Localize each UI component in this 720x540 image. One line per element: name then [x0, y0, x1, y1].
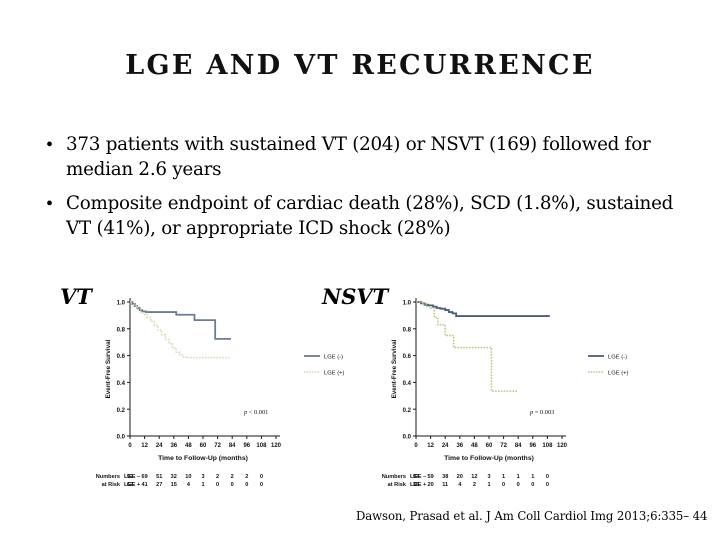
svg-text:12: 12	[427, 443, 434, 449]
svg-text:72: 72	[214, 443, 221, 449]
bullet-text: Composite endpoint of cardiac death (28%…	[66, 191, 694, 241]
svg-text:84: 84	[229, 443, 236, 449]
svg-text:Numbers: Numbers	[382, 474, 406, 480]
svg-text:2: 2	[245, 474, 248, 480]
svg-text:1: 1	[502, 474, 505, 480]
svg-text:60: 60	[486, 443, 493, 449]
svg-text:120: 120	[557, 443, 568, 449]
svg-text:20: 20	[457, 474, 463, 480]
svg-text:p < 0.001: p < 0.001	[243, 409, 268, 416]
svg-text:60: 60	[200, 443, 207, 449]
chart-panel-nsvt: NSVT 0.00.20.40.60.81.001224364860728496…	[322, 284, 642, 509]
svg-text:p = 0.003: p = 0.003	[529, 409, 554, 416]
svg-text:1.0: 1.0	[117, 301, 126, 307]
svg-text:1: 1	[487, 482, 490, 488]
bullet-text: 373 patients with sustained VT (204) or …	[66, 132, 694, 182]
svg-text:at Risk: at Risk	[102, 482, 121, 488]
svg-text:51: 51	[156, 474, 162, 480]
svg-text:0.2: 0.2	[403, 408, 412, 414]
chart-panel-vt: VT 0.00.20.40.60.81.00122436486072849610…	[58, 284, 363, 509]
svg-text:Event-Free Survival: Event-Free Survival	[391, 339, 398, 398]
svg-text:0.4: 0.4	[117, 381, 126, 387]
svg-text:41: 41	[141, 482, 147, 488]
svg-text:0: 0	[260, 474, 263, 480]
citation-text: Dawson, Prasad et al. J Am Coll Cardiol …	[356, 509, 707, 523]
km-curve-vt: 0.00.20.40.60.81.00122436486072849610812…	[58, 284, 363, 509]
svg-text:0: 0	[502, 482, 505, 488]
svg-text:92: 92	[127, 474, 133, 480]
svg-text:0: 0	[531, 482, 534, 488]
svg-text:0: 0	[546, 474, 549, 480]
svg-text:27: 27	[156, 482, 162, 488]
svg-text:1: 1	[517, 474, 520, 480]
svg-text:1: 1	[201, 482, 204, 488]
svg-text:0.2: 0.2	[117, 408, 126, 414]
svg-text:36: 36	[170, 443, 177, 449]
svg-text:10: 10	[185, 474, 191, 480]
svg-text:15: 15	[171, 482, 177, 488]
bullet-marker: •	[46, 191, 66, 218]
svg-text:48: 48	[185, 443, 192, 449]
svg-text:36: 36	[456, 443, 463, 449]
svg-text:1.0: 1.0	[403, 301, 412, 307]
svg-text:4: 4	[187, 482, 191, 488]
svg-text:Event-Free Survival: Event-Free Survival	[105, 339, 112, 398]
svg-text:0: 0	[231, 482, 234, 488]
svg-text:0.6: 0.6	[403, 354, 412, 360]
svg-text:62: 62	[127, 482, 133, 488]
svg-text:48: 48	[471, 443, 478, 449]
svg-text:LGE (-): LGE (-)	[608, 354, 627, 360]
svg-text:72: 72	[500, 443, 507, 449]
svg-text:12: 12	[471, 474, 477, 480]
svg-text:0: 0	[128, 443, 132, 449]
svg-text:Numbers: Numbers	[96, 474, 120, 480]
svg-text:0: 0	[260, 482, 263, 488]
svg-text:24: 24	[442, 443, 449, 449]
svg-text:0.4: 0.4	[403, 381, 412, 387]
bullet-marker: •	[46, 132, 66, 159]
svg-text:0.8: 0.8	[117, 327, 126, 333]
svg-text:11: 11	[442, 482, 448, 488]
svg-text:108: 108	[256, 443, 267, 449]
svg-text:0.0: 0.0	[117, 435, 126, 441]
svg-text:0: 0	[216, 482, 219, 488]
svg-text:2: 2	[473, 482, 476, 488]
slide-canvas: LGE AND VT RECURRENCE • 373 patients wit…	[0, 0, 720, 540]
page-title: LGE AND VT RECURRENCE	[0, 50, 720, 81]
svg-text:35: 35	[413, 482, 419, 488]
svg-text:1: 1	[531, 474, 534, 480]
svg-text:4: 4	[458, 482, 462, 488]
svg-text:3: 3	[487, 474, 490, 480]
svg-text:32: 32	[171, 474, 177, 480]
svg-text:0.6: 0.6	[117, 354, 126, 360]
svg-text:0.8: 0.8	[403, 327, 412, 333]
svg-text:108: 108	[542, 443, 553, 449]
svg-text:LGE (+): LGE (+)	[608, 370, 629, 376]
svg-text:97: 97	[413, 474, 419, 480]
svg-text:Time to Follow-Up (months): Time to Follow-Up (months)	[444, 455, 534, 462]
svg-text:12: 12	[141, 443, 148, 449]
svg-text:0: 0	[245, 482, 248, 488]
svg-text:84: 84	[515, 443, 522, 449]
svg-text:24: 24	[156, 443, 163, 449]
svg-text:96: 96	[243, 443, 250, 449]
svg-text:0: 0	[546, 482, 549, 488]
km-curve-nsvt: 0.00.20.40.60.81.00122436486072849610812…	[322, 284, 642, 509]
svg-text:at Risk: at Risk	[388, 482, 407, 488]
svg-text:96: 96	[529, 443, 536, 449]
svg-text:0: 0	[414, 443, 418, 449]
svg-text:0.0: 0.0	[403, 435, 412, 441]
svg-text:2: 2	[231, 474, 234, 480]
svg-text:3: 3	[201, 474, 204, 480]
list-item: • Composite endpoint of cardiac death (2…	[46, 191, 694, 241]
svg-text:59: 59	[427, 474, 433, 480]
svg-text:2: 2	[216, 474, 219, 480]
svg-text:20: 20	[427, 482, 433, 488]
bullet-list: • 373 patients with sustained VT (204) o…	[46, 132, 694, 250]
svg-text:38: 38	[442, 474, 448, 480]
svg-text:0: 0	[517, 482, 520, 488]
svg-text:69: 69	[141, 474, 147, 480]
svg-text:Time to Follow-Up (months): Time to Follow-Up (months)	[158, 455, 248, 462]
list-item: • 373 patients with sustained VT (204) o…	[46, 132, 694, 182]
svg-text:120: 120	[271, 443, 282, 449]
